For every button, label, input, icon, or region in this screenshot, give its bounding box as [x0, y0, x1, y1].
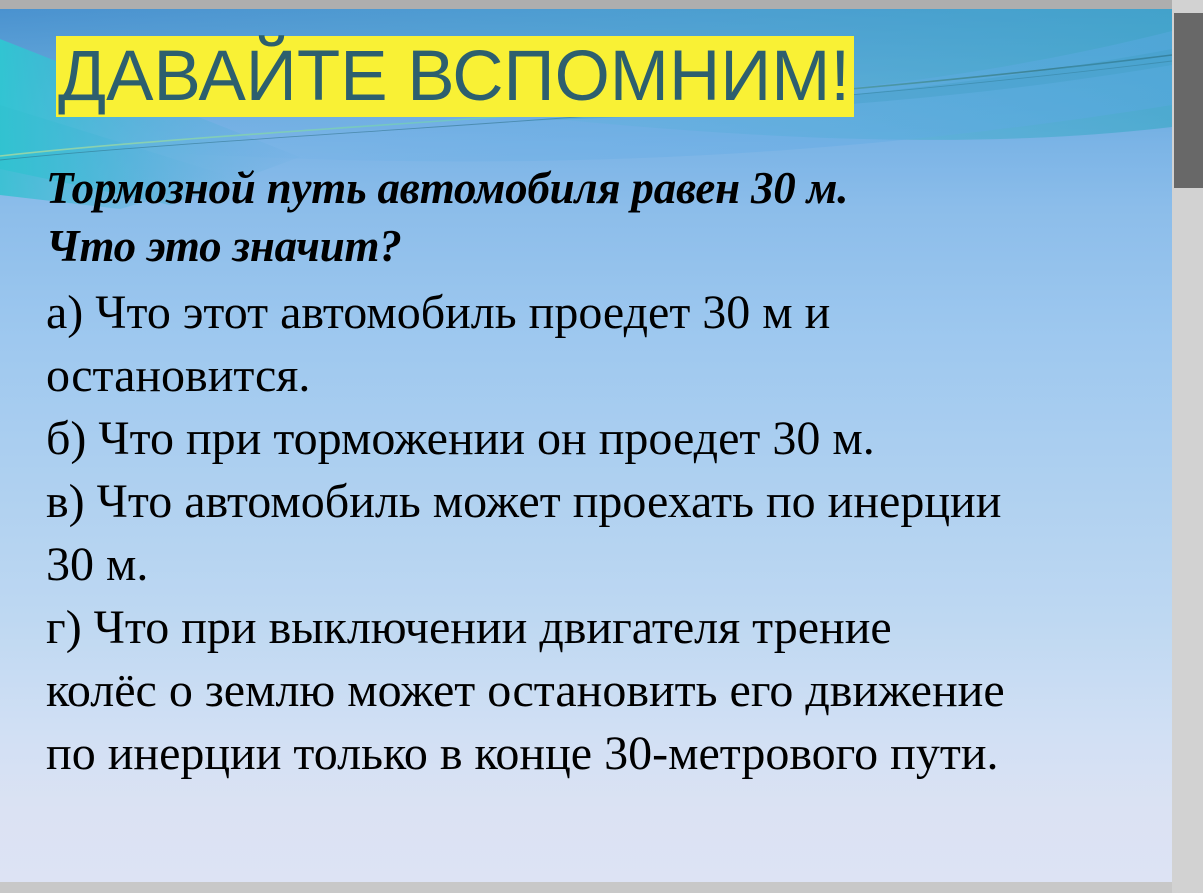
slide-title-wrapper: ДАВАЙТЕ ВСПОМНИМ!: [56, 36, 854, 117]
option-line-2: остановится.: [46, 344, 1166, 407]
slide-body: Тормозной путь автомобиля равен 30 м. Чт…: [46, 159, 1166, 785]
option-line-3: б) Что при торможении он проедет 30 м.: [46, 407, 1166, 470]
option-line-4: в) Что автомобиль может проехать по инер…: [46, 470, 1166, 533]
vertical-scrollbar[interactable]: [1172, 0, 1203, 893]
presentation-slide: ДАВАЙТЕ ВСПОМНИМ! Тормозной путь автомоб…: [0, 9, 1172, 882]
slide-viewer: ДАВАЙТЕ ВСПОМНИМ! Тормозной путь автомоб…: [0, 0, 1203, 893]
option-line-1: а) Что этот автомобиль проедет 30 м и: [46, 281, 1166, 344]
option-line-8: по инерции только в конце 30-метрового п…: [46, 722, 1166, 785]
option-line-6: г) Что при выключении двигателя трение: [46, 596, 1166, 659]
lead-line-1: Тормозной путь автомобиля равен 30 м.: [46, 159, 1166, 217]
option-line-5: 30 м.: [46, 533, 1166, 596]
viewer-top-strip: [0, 0, 1172, 9]
slide-title: ДАВАЙТЕ ВСПОМНИМ!: [56, 36, 854, 117]
scrollbar-thumb[interactable]: [1174, 13, 1203, 188]
option-line-7: колёс о землю может остановить его движе…: [46, 659, 1166, 722]
lead-line-2: Что это значит?: [46, 217, 1166, 275]
